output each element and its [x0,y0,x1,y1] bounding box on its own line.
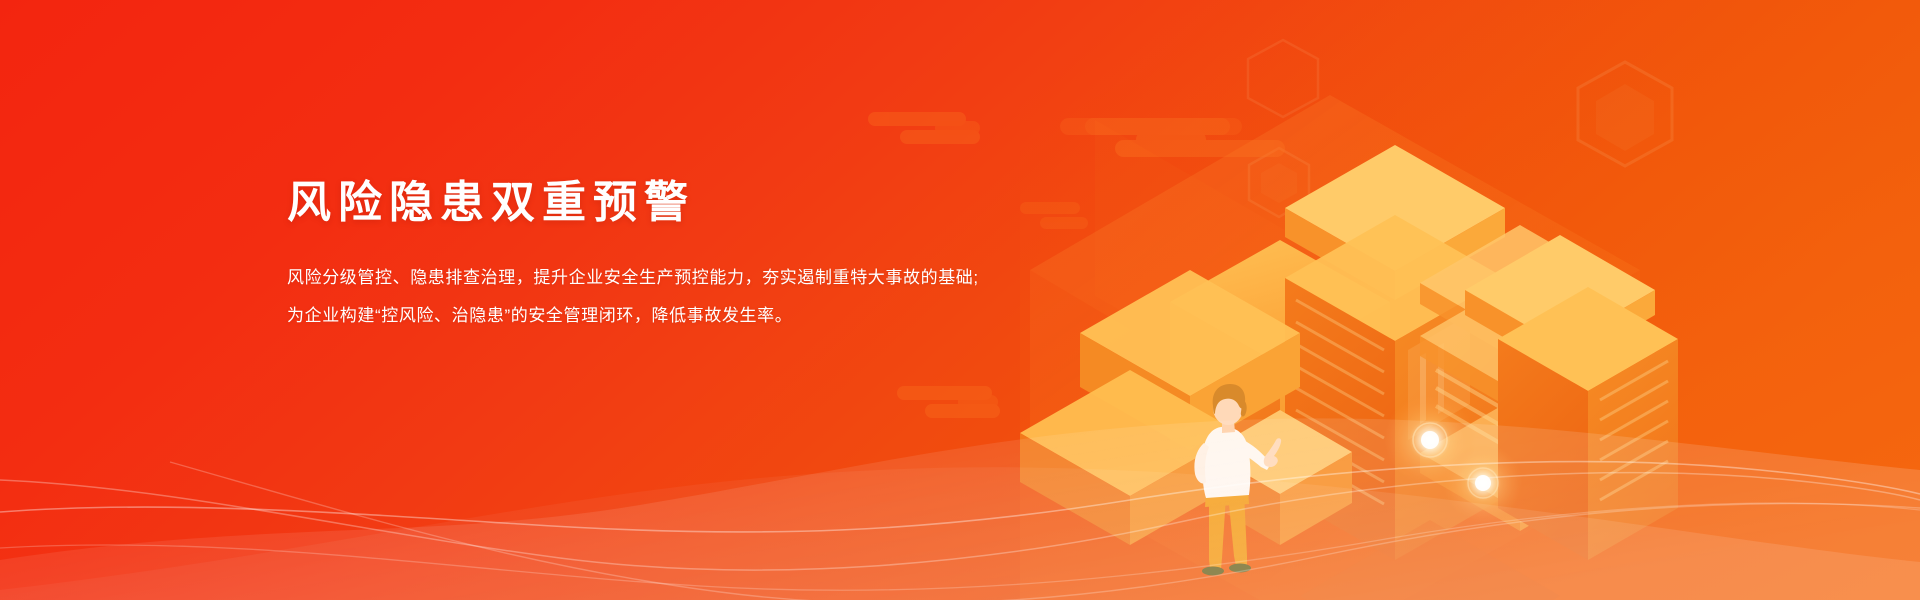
banner-subtitle-line-1: 风险分级管控、隐患排查治理，提升企业安全生产预控能力，夯实遏制重特大事故的基础; [287,262,987,293]
banner-subtitle-line-2: 为企业构建“控风险、治隐患”的安全管理闭环，降低事故发生率。 [287,300,987,331]
promo-banner: 风险隐患双重预警 风险分级管控、隐患排查治理，提升企业安全生产预控能力，夯实遏制… [0,0,1920,600]
banner-subtitle-group: 风险分级管控、隐患排查治理，提升企业安全生产预控能力，夯实遏制重特大事故的基础;… [287,262,987,332]
banner-text-block: 风险隐患双重预警 风险分级管控、隐患排查治理，提升企业安全生产预控能力，夯实遏制… [287,175,987,339]
banner-title: 风险隐患双重预警 [287,175,987,230]
